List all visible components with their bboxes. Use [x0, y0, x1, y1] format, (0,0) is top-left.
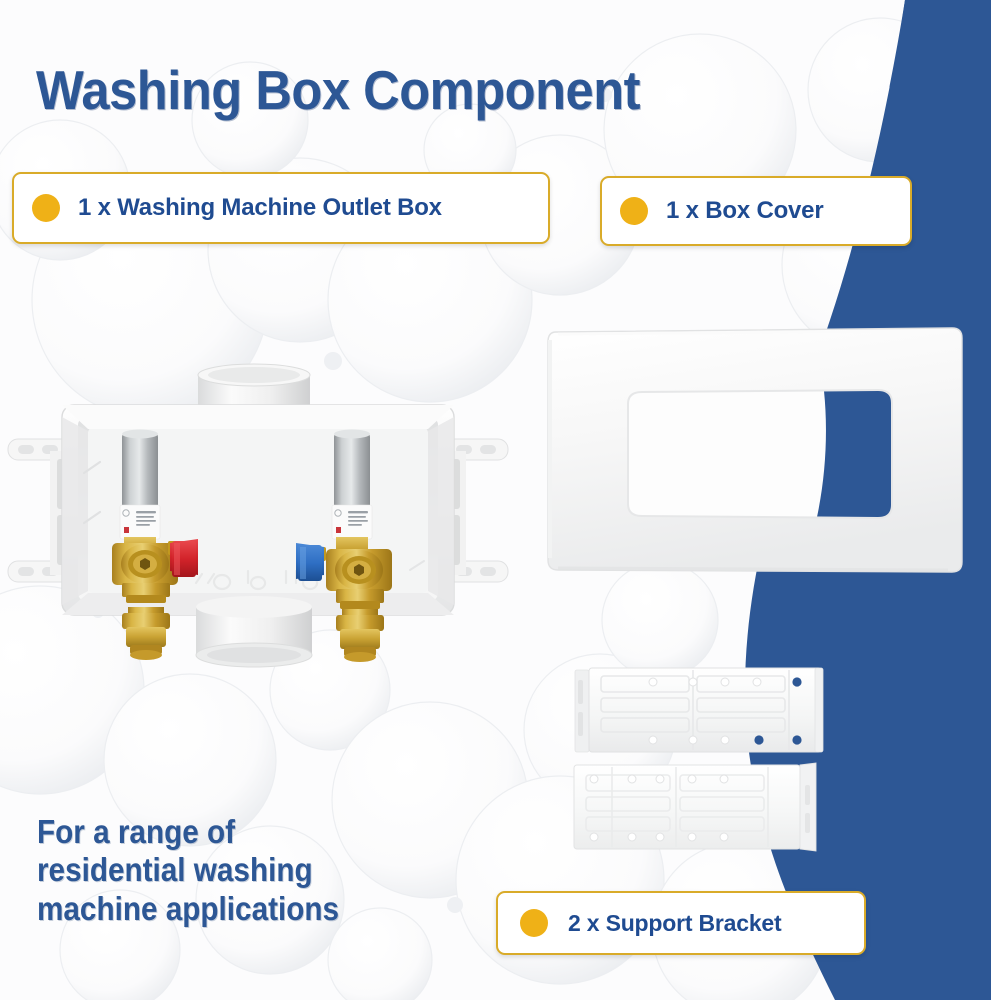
gold-dot-icon: [520, 909, 548, 937]
tagline-line-2: residential washing: [37, 851, 339, 889]
tagline: For a range of residential washing machi…: [37, 813, 339, 928]
page-title: Washing Box Component: [36, 62, 640, 120]
gold-dot-icon: [620, 197, 648, 225]
product-image-outlet-box: [0, 355, 520, 695]
callout-outlet-box-label: 1 x Washing Machine Outlet Box: [78, 194, 442, 222]
callout-box-cover-label: 1 x Box Cover: [666, 197, 823, 225]
product-image-support-bracket-1: [565, 660, 855, 765]
callout-support-bracket[interactable]: 2 x Support Bracket: [496, 891, 866, 955]
gold-dot-icon: [32, 194, 60, 222]
drain-bell-bottom: [196, 596, 312, 667]
callout-support-bracket-label: 2 x Support Bracket: [568, 910, 782, 937]
product-image-box-cover: [528, 300, 991, 600]
tagline-line-3: machine applications: [37, 890, 339, 928]
tagline-line-1: For a range of: [37, 813, 339, 851]
product-image-support-bracket-2: [560, 757, 860, 862]
callout-box-cover[interactable]: 1 x Box Cover: [600, 176, 912, 246]
callout-outlet-box[interactable]: 1 x Washing Machine Outlet Box: [12, 172, 550, 244]
infographic-canvas: Washing Box Component: [0, 0, 991, 1000]
